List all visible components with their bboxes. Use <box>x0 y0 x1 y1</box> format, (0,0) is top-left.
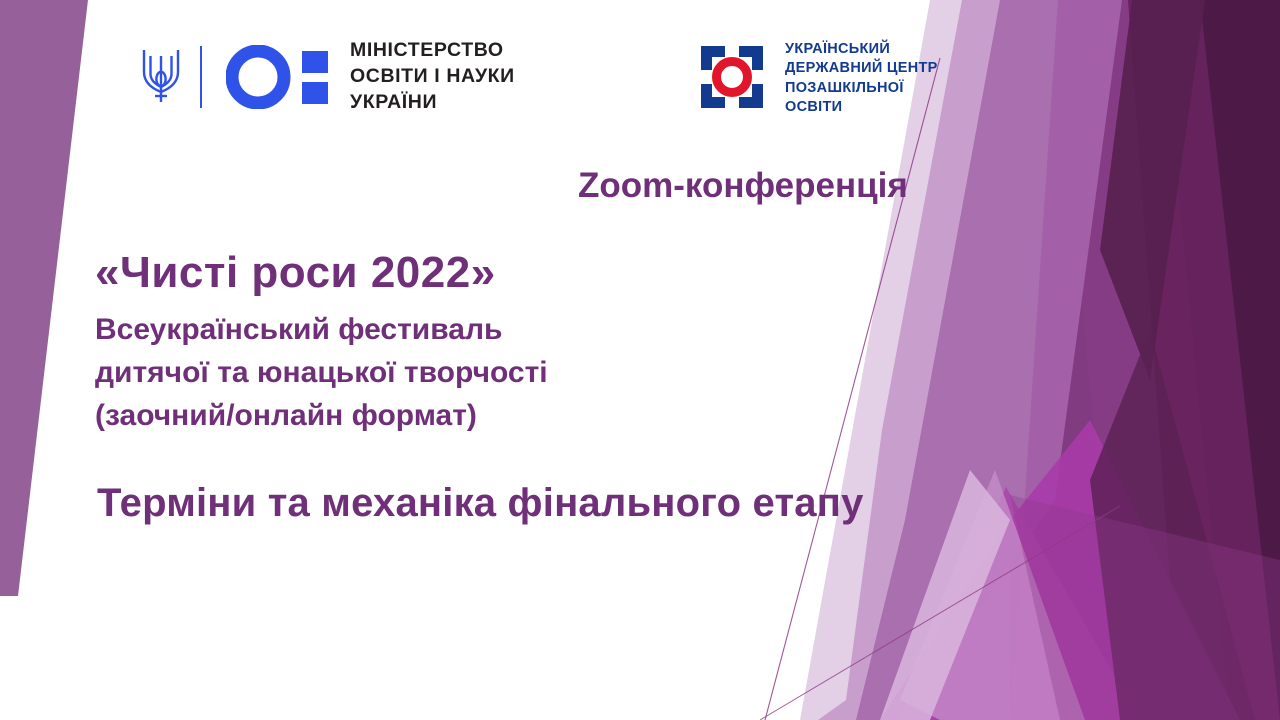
kicker-zoom-conference: Zoom-конференція <box>578 166 908 206</box>
logo-divider <box>200 46 202 108</box>
center-text-line: ОСВІТИ <box>785 98 938 117</box>
section-heading: Терміни та механіка фінального етапу <box>97 481 864 526</box>
deco-hairline-long-diagonal <box>765 58 940 720</box>
deco-dark-facet-lower <box>1090 330 1255 720</box>
ministry-text-line: ОСВІТИ І НАУКИ <box>350 64 515 90</box>
festival-subtitle: Всеукраїнський фестиваль дитячої та юнац… <box>95 309 548 438</box>
mon-circle-square-icon <box>226 45 330 109</box>
udcpo-bracket-ring-icon <box>697 42 767 112</box>
deco-bottom-pale <box>880 470 1010 720</box>
deco-cross-band <box>1010 495 1280 720</box>
deco-hairline-shallow-diagonal <box>760 506 1120 720</box>
center-text-line: ПОЗАШКІЛЬНОЇ <box>785 79 938 98</box>
festival-title: «Чисті роси 2022» <box>95 248 496 298</box>
center-text-line: ДЕРЖАВНИЙ ЦЕНТР <box>785 59 938 78</box>
center-logo-text: УКРАЇНСЬКИЙ ДЕРЖАВНИЙ ЦЕНТР ПОЗАШКІЛЬНОЇ… <box>785 40 938 118</box>
center-logo: УКРАЇНСЬКИЙ ДЕРЖАВНИЙ ЦЕНТР ПОЗАШКІЛЬНОЇ… <box>697 40 938 118</box>
ukraine-trident-icon <box>138 46 184 108</box>
ministry-logo: МІНІСТЕРСТВО ОСВІТИ І НАУКИ УКРАЇНИ <box>138 38 515 116</box>
festival-subtitle-line: Всеукраїнський фестиваль <box>95 309 548 352</box>
deco-magenta-lower-2 <box>900 487 1140 720</box>
festival-subtitle-line: дитячої та юнацької творчості <box>95 352 548 395</box>
center-text-line: УКРАЇНСЬКИЙ <box>785 40 938 59</box>
deco-magenta-lower <box>880 420 1240 720</box>
festival-subtitle-line: (заочний/онлайн формат) <box>95 395 548 438</box>
ministry-logo-text: МІНІСТЕРСТВО ОСВІТИ І НАУКИ УКРАЇНИ <box>350 38 515 116</box>
ministry-text-line: УКРАЇНИ <box>350 90 515 116</box>
logo-row: МІНІСТЕРСТВО ОСВІТИ І НАУКИ УКРАЇНИ УКРА… <box>0 38 1280 134</box>
ministry-text-line: МІНІСТЕРСТВО <box>350 38 515 64</box>
deco-bottom-lavender <box>900 470 1085 720</box>
presentation-slide: МІНІСТЕРСТВО ОСВІТИ І НАУКИ УКРАЇНИ УКРА… <box>0 0 1280 720</box>
